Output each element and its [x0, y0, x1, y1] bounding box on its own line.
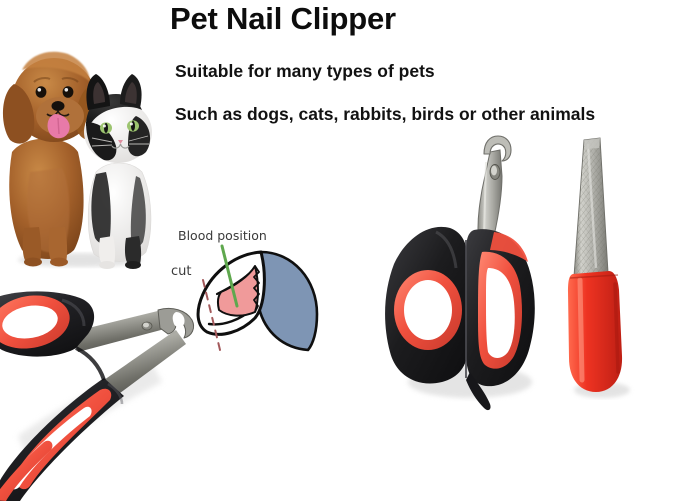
- subtitle-line-2: Such as dogs, cats, rabbits, birds or ot…: [175, 104, 595, 125]
- file-handle: [568, 271, 622, 392]
- clipper-main: [378, 132, 554, 412]
- toe-shape: [256, 252, 317, 350]
- subtitle-line-1: Suitable for many types of pets: [175, 61, 435, 82]
- clipper-handle-right: [466, 229, 535, 386]
- product-poster: Pet Nail Clipper Suitable for many types…: [0, 0, 679, 501]
- nail-file: [540, 138, 672, 400]
- clipper-handle-left: [385, 227, 468, 384]
- cat-illustration: [84, 74, 152, 269]
- clipper-closeup: [0, 286, 212, 501]
- cut-label: cut: [171, 264, 191, 279]
- blood-position-label: Blood position: [178, 228, 267, 243]
- page-title: Pet Nail Clipper: [170, 2, 396, 36]
- file-blade: [574, 138, 608, 276]
- pets-photo: [0, 22, 170, 272]
- dog-illustration: [3, 52, 103, 267]
